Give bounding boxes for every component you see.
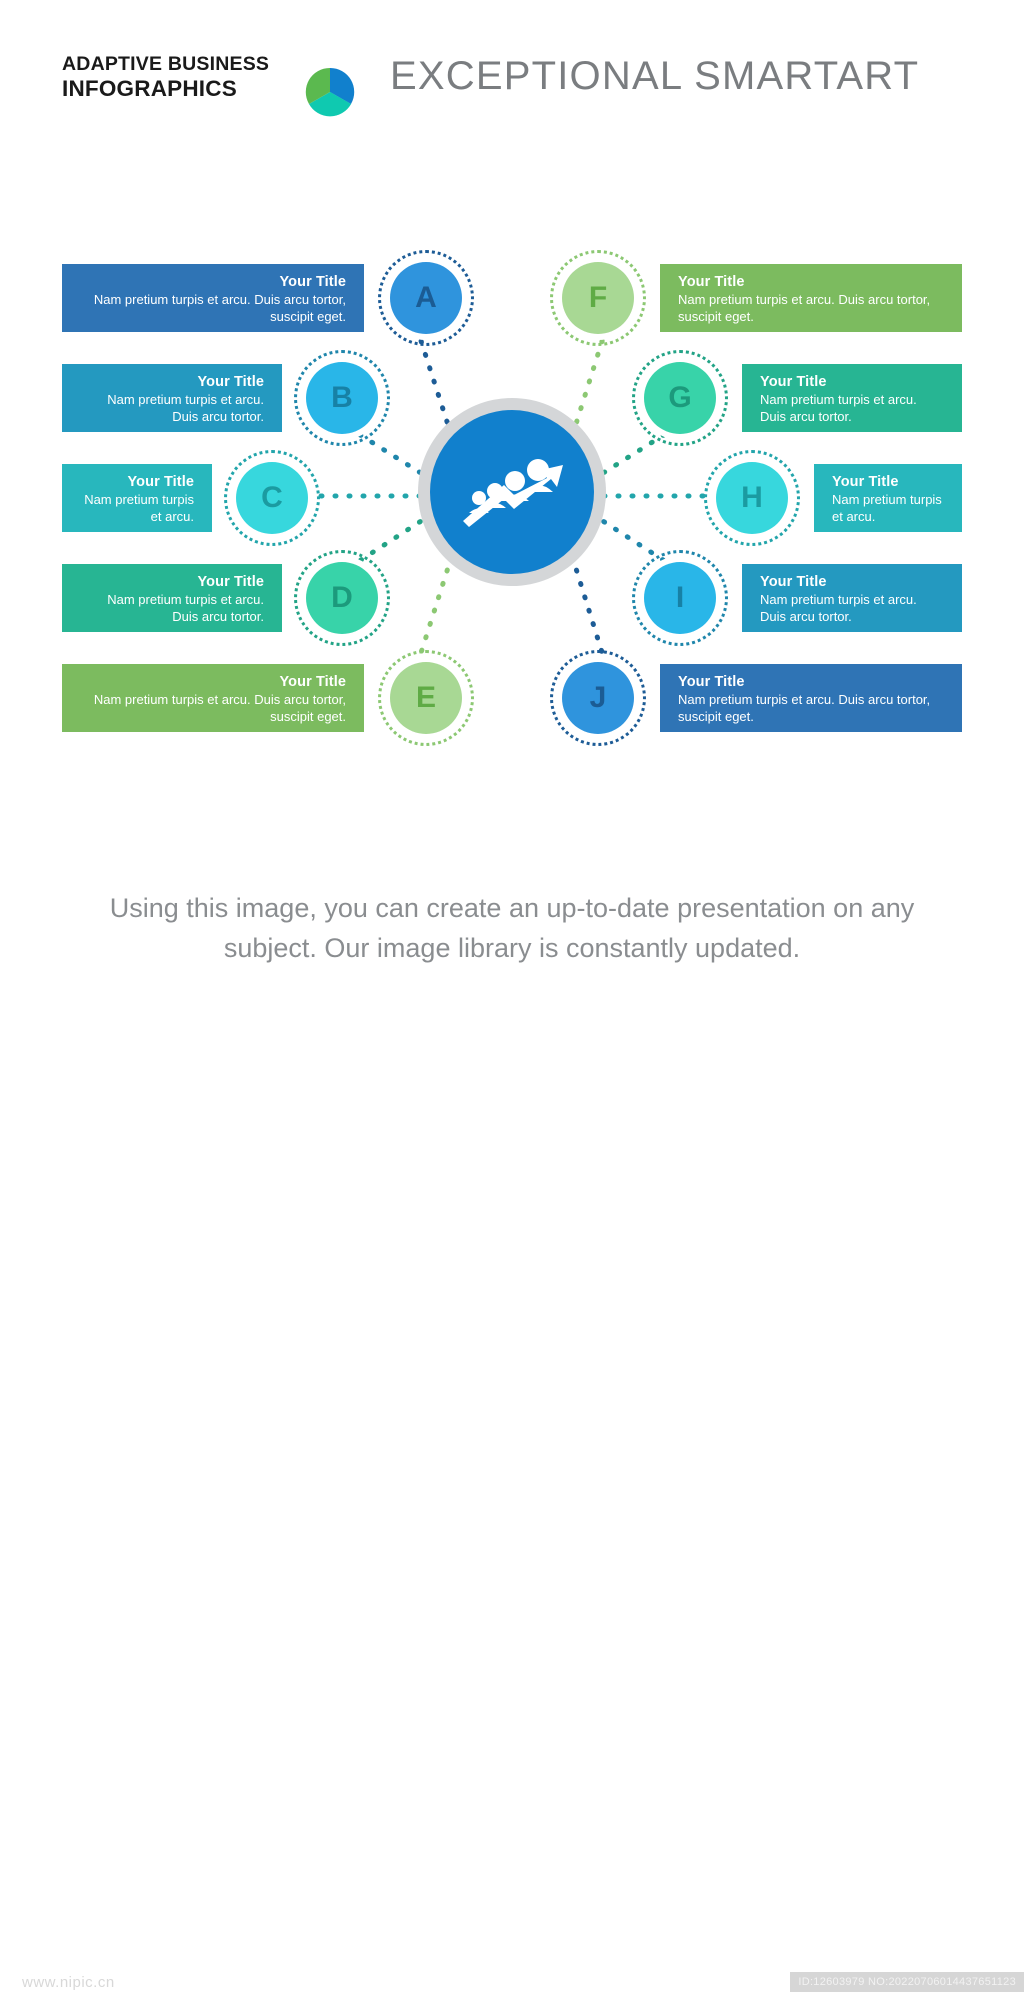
row-j[interactable]: Your Title Nam pretium turpis et arcu. D… (550, 664, 962, 732)
node-i[interactable]: I (632, 550, 728, 646)
bar-g[interactable]: Your Title Nam pretium turpis et arcu. D… (742, 364, 962, 432)
infographic-diagram: Your Title Nam pretium turpis et arcu. D… (0, 230, 1024, 760)
node-j[interactable]: J (550, 650, 646, 746)
node-b-letter: B (331, 381, 353, 415)
row-h[interactable]: Your Title Nam pretium turpis et arcu. H (704, 464, 962, 532)
row-i[interactable]: Your Title Nam pretium turpis et arcu. D… (632, 564, 962, 632)
desc-j: Nam pretium turpis et arcu. Duis arcu to… (678, 692, 944, 725)
bar-d[interactable]: Your Title Nam pretium turpis et arcu. D… (62, 564, 282, 632)
pie-chart-logo-icon (305, 67, 355, 117)
bar-c[interactable]: Your Title Nam pretium turpis et arcu. (62, 464, 212, 532)
title-c: Your Title (80, 473, 194, 491)
node-i-letter: I (676, 581, 684, 615)
node-d-letter: D (331, 581, 353, 615)
title-b: Your Title (80, 373, 264, 391)
desc-h: Nam pretium turpis et arcu. (832, 492, 944, 525)
node-a-letter: A (415, 281, 437, 315)
watermark-text: www.nipic.cn (22, 1974, 115, 1991)
desc-f: Nam pretium turpis et arcu. Duis arcu to… (678, 292, 944, 325)
footer-bar: www.nipic.cn ID:12603979 NO:202207060144… (0, 980, 1024, 1024)
title-g: Your Title (760, 373, 944, 391)
bar-f[interactable]: Your Title Nam pretium turpis et arcu. D… (660, 264, 962, 332)
node-e-disc: E (390, 662, 462, 734)
desc-c: Nam pretium turpis et arcu. (80, 492, 194, 525)
bar-e[interactable]: Your Title Nam pretium turpis et arcu. D… (62, 664, 364, 732)
desc-i: Nam pretium turpis et arcu. Duis arcu to… (760, 592, 944, 625)
node-e[interactable]: E (378, 650, 474, 746)
center-hub[interactable] (418, 398, 606, 586)
caption-text: Using this image, you can create an up-t… (62, 888, 962, 968)
row-d[interactable]: Your Title Nam pretium turpis et arcu. D… (62, 564, 392, 632)
node-j-letter: J (590, 681, 607, 715)
node-c[interactable]: C (224, 450, 320, 546)
row-g[interactable]: Your Title Nam pretium turpis et arcu. D… (632, 364, 962, 432)
node-b-disc: B (306, 362, 378, 434)
row-c[interactable]: Your Title Nam pretium turpis et arcu. C (62, 464, 320, 532)
row-e[interactable]: Your Title Nam pretium turpis et arcu. D… (62, 664, 474, 732)
title-a: Your Title (80, 273, 346, 291)
title-d: Your Title (80, 573, 264, 591)
bar-a[interactable]: Your Title Nam pretium turpis et arcu. D… (62, 264, 364, 332)
desc-b: Nam pretium turpis et arcu. Duis arcu to… (80, 392, 264, 425)
node-c-disc: C (236, 462, 308, 534)
node-h-letter: H (741, 481, 763, 515)
node-i-disc: I (644, 562, 716, 634)
desc-d: Nam pretium turpis et arcu. Duis arcu to… (80, 592, 264, 625)
desc-a: Nam pretium turpis et arcu. Duis arcu to… (80, 292, 346, 325)
row-a[interactable]: Your Title Nam pretium turpis et arcu. D… (62, 264, 474, 332)
bar-b[interactable]: Your Title Nam pretium turpis et arcu. D… (62, 364, 282, 432)
node-g-disc: G (644, 362, 716, 434)
bar-j[interactable]: Your Title Nam pretium turpis et arcu. D… (660, 664, 962, 732)
row-f[interactable]: Your Title Nam pretium turpis et arcu. D… (550, 264, 962, 332)
brand-lockup: ADAPTIVE BUSINESS INFOGRAPHICS (62, 52, 297, 102)
node-f-letter: F (589, 281, 607, 315)
node-h-disc: H (716, 462, 788, 534)
node-a-disc: A (390, 262, 462, 334)
title-e: Your Title (80, 673, 346, 691)
node-g[interactable]: G (632, 350, 728, 446)
bar-h[interactable]: Your Title Nam pretium turpis et arcu. (814, 464, 962, 532)
page-title: EXCEPTIONAL SMARTART (390, 54, 919, 99)
image-id-tag: ID:12603979 NO:20220706014437651123 (790, 1972, 1024, 1992)
node-f[interactable]: F (550, 250, 646, 346)
title-h: Your Title (832, 473, 944, 491)
node-b[interactable]: B (294, 350, 390, 446)
node-e-letter: E (416, 681, 436, 715)
bar-i[interactable]: Your Title Nam pretium turpis et arcu. D… (742, 564, 962, 632)
title-j: Your Title (678, 673, 944, 691)
node-d[interactable]: D (294, 550, 390, 646)
node-c-letter: C (261, 481, 283, 515)
node-f-disc: F (562, 262, 634, 334)
title-i: Your Title (760, 573, 944, 591)
title-f: Your Title (678, 273, 944, 291)
node-a[interactable]: A (378, 250, 474, 346)
node-h[interactable]: H (704, 450, 800, 546)
center-hub-disc (430, 410, 594, 574)
page-header: ADAPTIVE BUSINESS INFOGRAPHICS EXCEPTION… (0, 52, 1024, 124)
desc-e: Nam pretium turpis et arcu. Duis arcu to… (80, 692, 346, 725)
node-g-letter: G (668, 381, 691, 415)
people-growth-arrow-icon (459, 451, 565, 534)
brand-line-1: ADAPTIVE BUSINESS (62, 52, 297, 76)
node-d-disc: D (306, 562, 378, 634)
row-b[interactable]: Your Title Nam pretium turpis et arcu. D… (62, 364, 392, 432)
brand-line-2: INFOGRAPHICS (62, 76, 297, 102)
desc-g: Nam pretium turpis et arcu. Duis arcu to… (760, 392, 944, 425)
node-j-disc: J (562, 662, 634, 734)
